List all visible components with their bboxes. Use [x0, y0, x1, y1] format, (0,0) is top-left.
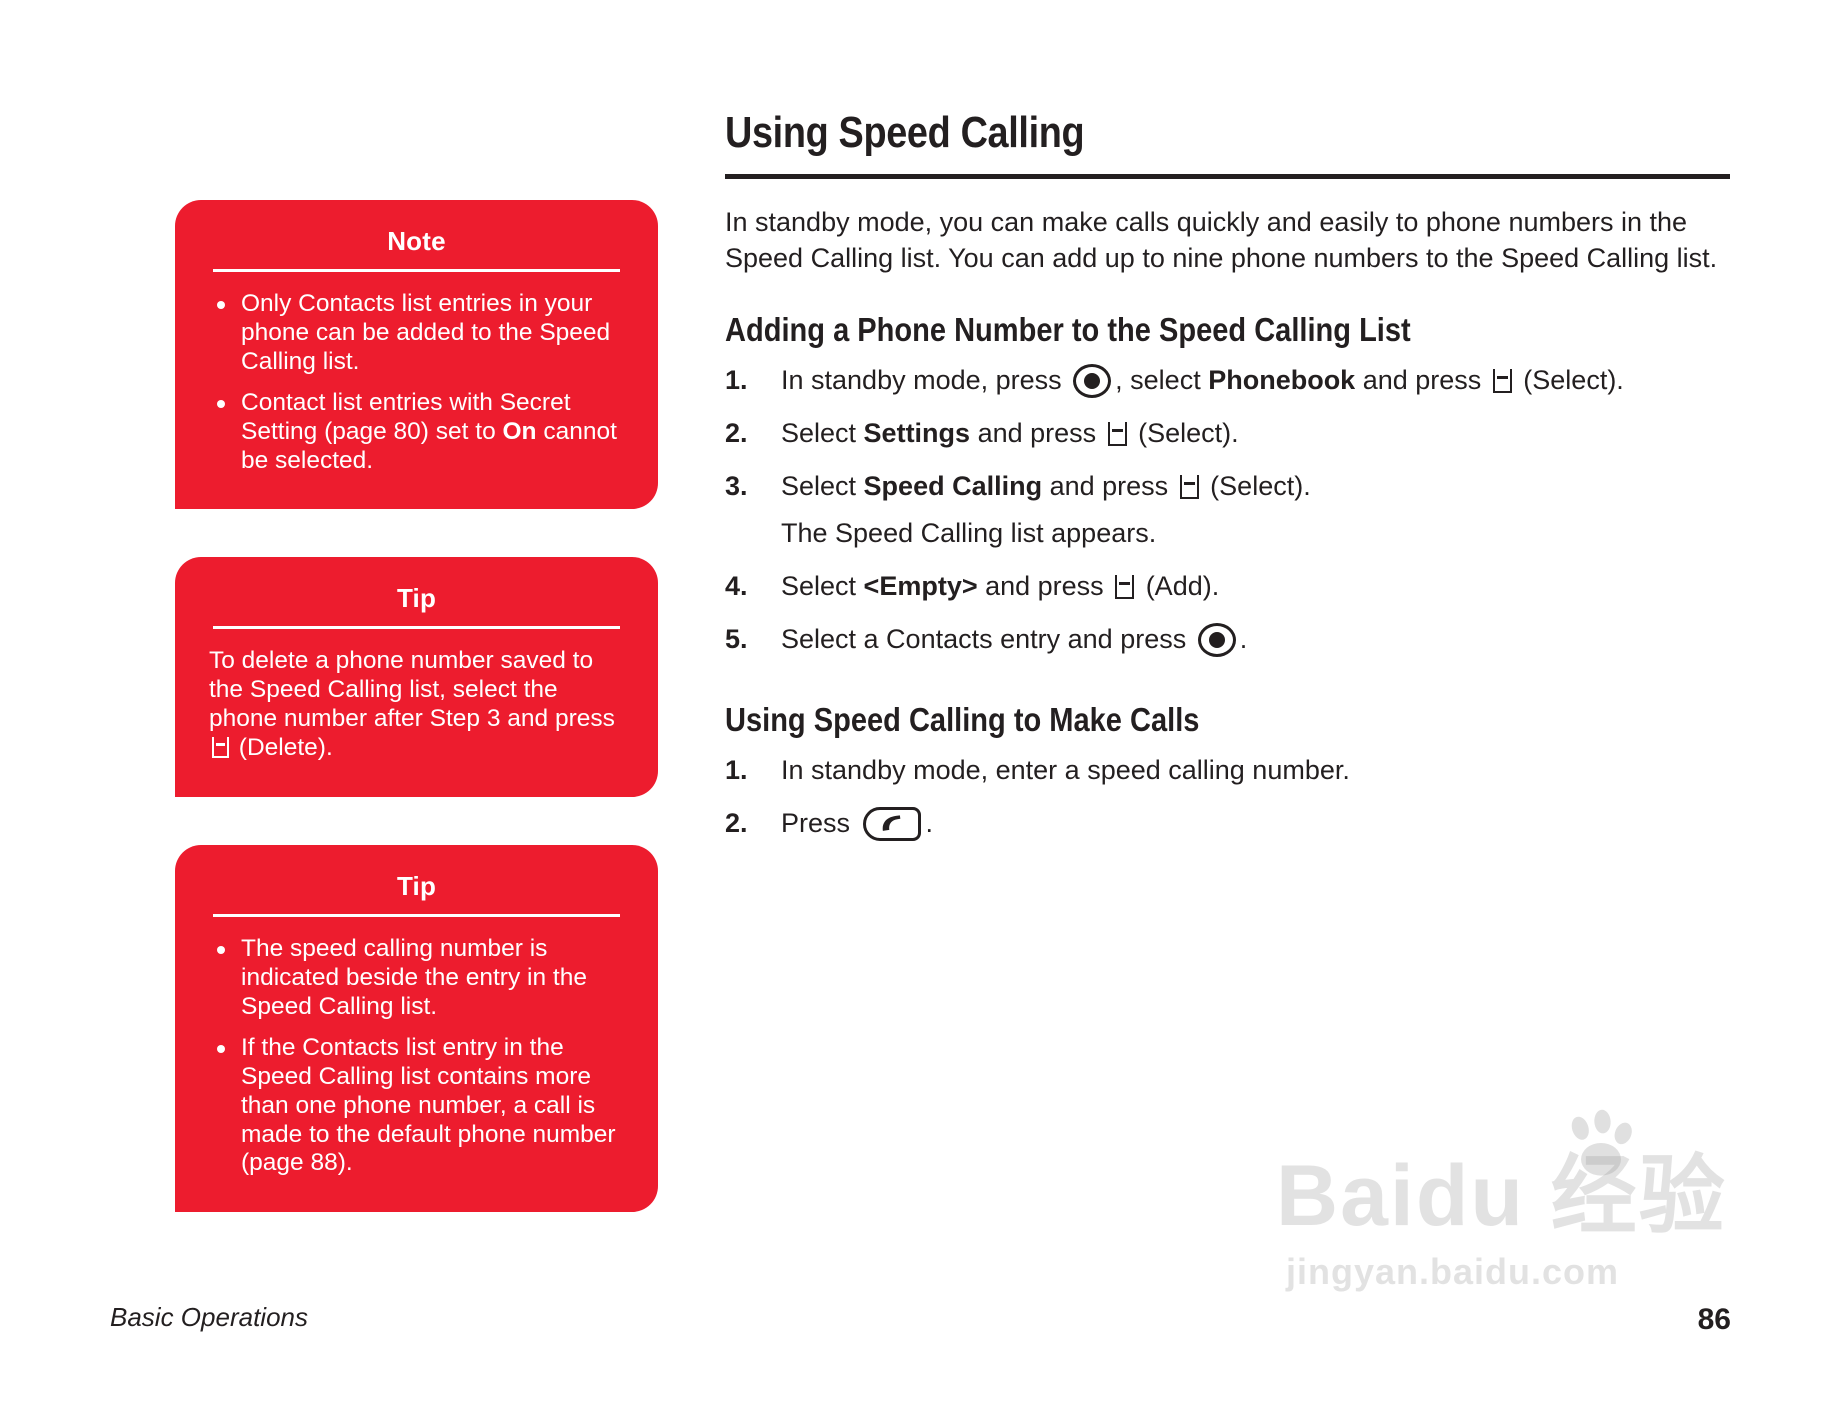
- callout-body: To delete a phone number saved to the Sp…: [209, 647, 624, 763]
- soft-key-icon: [1108, 422, 1127, 446]
- step-text: In standby mode, press , select Phoneboo…: [781, 365, 1624, 395]
- callout-body: The speed calling number is indicated be…: [209, 935, 624, 1178]
- emphasis-text: On: [503, 418, 537, 445]
- callout-body: Only Contacts list entries in your phone…: [209, 290, 624, 475]
- center-select-key-icon: [1073, 364, 1111, 398]
- step-list: 1.In standby mode, enter a speed calling…: [725, 753, 1730, 841]
- emphasis-text: Speed Calling: [864, 471, 1043, 501]
- title-divider: [725, 174, 1730, 179]
- list-item: Contact list entries with Secret Setting…: [209, 389, 624, 476]
- callout-title: Tip: [209, 871, 624, 914]
- step-text: Select a Contacts entry and press .: [781, 624, 1247, 654]
- main-content-column: Using Speed Calling In standby mode, you…: [725, 108, 1730, 860]
- step-item: 5.Select a Contacts entry and press .: [725, 622, 1730, 657]
- baidu-watermark: Baidu 经验 jingyan.baidu.com: [1276, 1115, 1746, 1305]
- step-number: 2.: [725, 806, 748, 841]
- step-item: 1.In standby mode, enter a speed calling…: [725, 753, 1730, 788]
- step-text: Select <Empty> and press (Add).: [781, 571, 1219, 601]
- callout-divider: [213, 914, 620, 917]
- call-key-icon: [863, 807, 921, 841]
- step-text: Select Speed Calling and press (Select).: [781, 471, 1311, 501]
- callout-column: NoteOnly Contacts list entries in your p…: [175, 200, 658, 1260]
- step-item: 2.Select Settings and press (Select).: [725, 416, 1730, 451]
- step-item: 3.Select Speed Calling and press (Select…: [725, 469, 1730, 504]
- watermark-url: jingyan.baidu.com: [1286, 1251, 1619, 1293]
- page-number: 86: [1698, 1303, 1731, 1337]
- section-heading: Using Speed Calling to Make Calls: [725, 701, 1609, 739]
- callout-paragraph: To delete a phone number saved to the Sp…: [209, 647, 624, 763]
- callout-box-tip: TipTo delete a phone number saved to the…: [175, 557, 658, 797]
- callout-divider: [213, 269, 620, 272]
- manual-page: NoteOnly Contacts list entries in your p…: [0, 0, 1826, 1405]
- step-text: In standby mode, enter a speed calling n…: [781, 755, 1350, 785]
- emphasis-text: <Empty>: [864, 571, 978, 601]
- step-item: 1.In standby mode, press , select Phoneb…: [725, 363, 1730, 398]
- callout-title: Tip: [209, 583, 624, 626]
- soft-key-icon: [1180, 475, 1199, 499]
- list-item: Only Contacts list entries in your phone…: [209, 290, 624, 377]
- emphasis-text: Phonebook: [1208, 365, 1355, 395]
- step-number: 2.: [725, 416, 748, 451]
- watermark-brand: Baidu 经验: [1276, 1125, 1727, 1250]
- soft-key-icon: [1493, 369, 1512, 393]
- footer-section-label: Basic Operations: [110, 1302, 308, 1333]
- callout-bullet-list: Only Contacts list entries in your phone…: [209, 290, 624, 475]
- page-title: Using Speed Calling: [725, 108, 1589, 168]
- soft-key-icon: [1115, 575, 1134, 599]
- sections-container: Adding a Phone Number to the Speed Calli…: [725, 311, 1730, 842]
- step-number: 4.: [725, 569, 748, 604]
- step-number: 1.: [725, 363, 748, 398]
- step-list: 1.In standby mode, press , select Phoneb…: [725, 363, 1730, 658]
- list-item: The speed calling number is indicated be…: [209, 935, 624, 1022]
- step-number: 1.: [725, 753, 748, 788]
- emphasis-text: Settings: [864, 418, 971, 448]
- paw-print-icon: [1564, 1109, 1638, 1183]
- intro-paragraph: In standby mode, you can make calls quic…: [725, 205, 1730, 277]
- step-text: Press .: [781, 808, 933, 838]
- step-item: 4.Select <Empty> and press (Add).: [725, 569, 1730, 604]
- step-note: The Speed Calling list appears.: [725, 516, 1730, 551]
- section-heading: Adding a Phone Number to the Speed Calli…: [725, 311, 1609, 349]
- callout-bullet-list: The speed calling number is indicated be…: [209, 935, 624, 1178]
- step-number: 5.: [725, 622, 748, 657]
- step-item: 2.Press .: [725, 806, 1730, 841]
- callout-box-tip: TipThe speed calling number is indicated…: [175, 845, 658, 1212]
- callout-box-note: NoteOnly Contacts list entries in your p…: [175, 200, 658, 509]
- soft-key-icon: [212, 737, 229, 758]
- step-text: Select Settings and press (Select).: [781, 418, 1239, 448]
- center-select-key-icon: [1198, 623, 1236, 657]
- list-item: If the Contacts list entry in the Speed …: [209, 1034, 624, 1179]
- step-number: 3.: [725, 469, 748, 504]
- callout-title: Note: [209, 226, 624, 269]
- callout-divider: [213, 626, 620, 629]
